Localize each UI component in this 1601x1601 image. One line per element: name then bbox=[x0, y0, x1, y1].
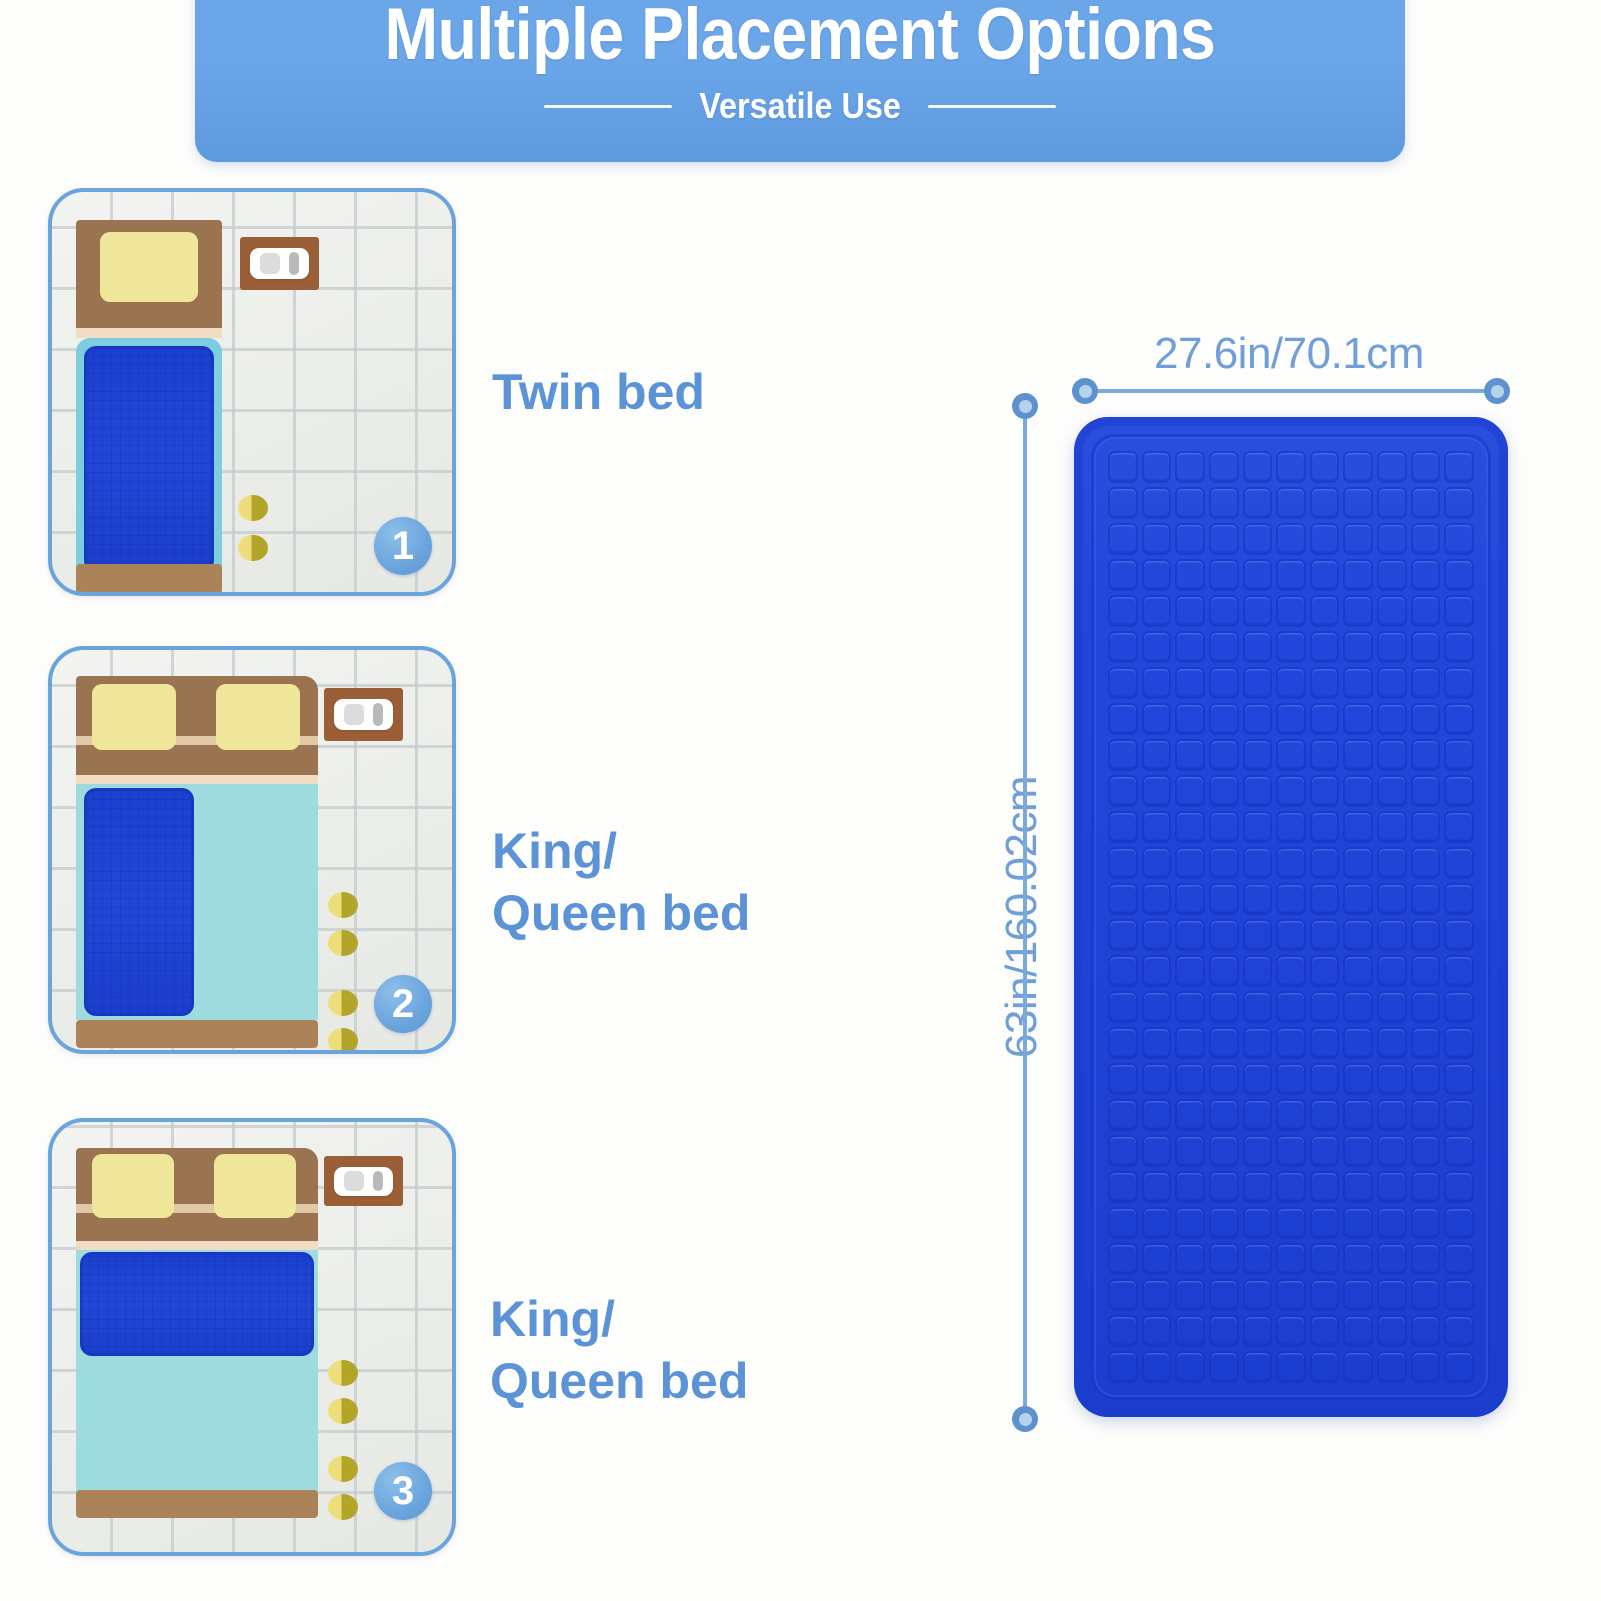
mat-texture-cell bbox=[1377, 1243, 1407, 1275]
mat-texture-cell bbox=[1209, 703, 1239, 735]
mat-texture-cell bbox=[1175, 1099, 1205, 1131]
footprint-icon bbox=[328, 930, 358, 956]
mat-texture-cell bbox=[1377, 703, 1407, 735]
mat-texture-cell bbox=[1142, 595, 1172, 627]
mat-texture-cell bbox=[1108, 667, 1138, 699]
mat-texture-cell bbox=[1444, 1315, 1474, 1347]
mat-texture-cell bbox=[1411, 1099, 1441, 1131]
mat-texture-cell bbox=[1377, 955, 1407, 987]
product-mat-in-scene-2 bbox=[84, 788, 194, 1016]
mat-texture-cell bbox=[1343, 667, 1373, 699]
mat-texture-cell bbox=[1411, 451, 1441, 483]
mat-texture-cell bbox=[1444, 919, 1474, 951]
mat-texture-cell bbox=[1276, 991, 1306, 1023]
mat-texture-cell bbox=[1310, 1207, 1340, 1239]
mat-texture-cell bbox=[1276, 775, 1306, 807]
mat-texture-cell bbox=[1377, 451, 1407, 483]
mat-texture-cell bbox=[1243, 1027, 1273, 1059]
mat-texture-cell bbox=[1343, 1027, 1373, 1059]
mat-texture-cell bbox=[1175, 559, 1205, 591]
mat-texture-cell bbox=[1343, 1351, 1373, 1383]
mat-texture-cell bbox=[1243, 1243, 1273, 1275]
mat-texture-cell bbox=[1310, 847, 1340, 879]
mat-texture-cell bbox=[1343, 811, 1373, 843]
mat-texture-cell bbox=[1108, 1207, 1138, 1239]
mat-texture-cell bbox=[1411, 631, 1441, 663]
mat-texture-cell bbox=[1343, 559, 1373, 591]
mat-texture-cell bbox=[1175, 775, 1205, 807]
mat-texture-cell bbox=[1411, 991, 1441, 1023]
mat-texture-cell bbox=[1444, 739, 1474, 771]
mat-texture-cell bbox=[1209, 1351, 1239, 1383]
mat-texture-cell bbox=[1444, 1063, 1474, 1095]
mat-texture-cell bbox=[1142, 703, 1172, 735]
mat-texture-cell bbox=[1108, 595, 1138, 627]
scene-label-twin-bed: Twin bed bbox=[492, 361, 705, 423]
scene-label-king-queen-2: King/ Queen bed bbox=[492, 820, 750, 944]
mat-texture-cell bbox=[1377, 487, 1407, 519]
mat-texture-cell bbox=[1411, 847, 1441, 879]
mat-texture-cell bbox=[1377, 559, 1407, 591]
footprint-icon bbox=[328, 1028, 358, 1054]
mat-texture-cell bbox=[1343, 703, 1373, 735]
mat-texture-cell bbox=[1142, 667, 1172, 699]
mat-texture-cell bbox=[1209, 847, 1239, 879]
scene-illustration-3: 3 bbox=[52, 1122, 452, 1552]
mat-texture-cell bbox=[1377, 667, 1407, 699]
mat-texture-cell bbox=[1175, 919, 1205, 951]
header-banner: Multiple Placement Options Versatile Use bbox=[195, 0, 1405, 162]
mat-texture-cell bbox=[1175, 1315, 1205, 1347]
mat-texture-cell bbox=[1377, 523, 1407, 555]
mat-texture-cell bbox=[1310, 1315, 1340, 1347]
mat-texture-cell bbox=[1377, 991, 1407, 1023]
mat-texture-cell bbox=[1310, 1063, 1340, 1095]
mat-texture-cell bbox=[1108, 955, 1138, 987]
mat-texture-cell bbox=[1108, 1171, 1138, 1203]
mat-texture-cell bbox=[1411, 559, 1441, 591]
mat-texture-cell bbox=[1209, 739, 1239, 771]
mat-texture-cell bbox=[1411, 595, 1441, 627]
mat-texture-cell bbox=[1243, 523, 1273, 555]
step-badge-1: 1 bbox=[374, 517, 432, 575]
mat-texture-cell bbox=[1209, 1315, 1239, 1347]
mat-texture-cell bbox=[1142, 1099, 1172, 1131]
mat-texture-cell bbox=[1175, 631, 1205, 663]
headboard-lip-3b bbox=[76, 1241, 318, 1250]
mat-texture-cell bbox=[1142, 1279, 1172, 1311]
headboard-lip-1 bbox=[76, 328, 222, 338]
mat-texture-cell bbox=[1243, 919, 1273, 951]
mat-texture-cell bbox=[1310, 1099, 1340, 1131]
mat-texture-cell bbox=[1243, 739, 1273, 771]
mat-texture-cell bbox=[1276, 1171, 1306, 1203]
product-mat-photo bbox=[1074, 417, 1508, 1417]
mat-texture-cell bbox=[1175, 1135, 1205, 1167]
mat-texture-cell bbox=[1243, 1099, 1273, 1131]
mat-texture-cell bbox=[1108, 1351, 1138, 1383]
mat-texture-cell bbox=[1444, 955, 1474, 987]
mat-texture-cell bbox=[1209, 1135, 1239, 1167]
mat-texture-cell bbox=[1343, 775, 1373, 807]
mat-texture-cell bbox=[1243, 1207, 1273, 1239]
mat-texture-cell bbox=[1175, 991, 1205, 1023]
mat-texture-cell bbox=[1142, 1063, 1172, 1095]
mat-texture-cell bbox=[1276, 667, 1306, 699]
rule-left-decoration bbox=[544, 105, 672, 108]
mat-texture-cell bbox=[1444, 775, 1474, 807]
mat-texture-cell bbox=[1444, 1135, 1474, 1167]
mat-texture-cell bbox=[1276, 451, 1306, 483]
mat-texture-cell bbox=[1411, 1315, 1441, 1347]
mat-texture-cell bbox=[1343, 1099, 1373, 1131]
mat-texture-cell bbox=[1411, 1063, 1441, 1095]
mat-texture-cell bbox=[1209, 631, 1239, 663]
mat-texture-cell bbox=[1377, 883, 1407, 915]
mat-texture-cell bbox=[1276, 955, 1306, 987]
mat-texture-cell bbox=[1276, 739, 1306, 771]
mat-texture-cell bbox=[1243, 1063, 1273, 1095]
scene-panel-king-queen-side: 2 bbox=[48, 646, 456, 1054]
mat-texture-cell bbox=[1243, 667, 1273, 699]
mat-texture-cell bbox=[1142, 523, 1172, 555]
phone-icon bbox=[344, 704, 364, 725]
mat-texture-cell bbox=[1343, 919, 1373, 951]
mat-texture-cell bbox=[1209, 1207, 1239, 1239]
mat-texture-cell bbox=[1411, 523, 1441, 555]
mat-texture-cell bbox=[1276, 1099, 1306, 1131]
bed-footboard-2 bbox=[76, 1020, 318, 1048]
mat-texture-cell bbox=[1310, 1279, 1340, 1311]
mat-texture-cell bbox=[1444, 487, 1474, 519]
mat-texture-cell bbox=[1243, 1171, 1273, 1203]
mat-texture-cell bbox=[1108, 739, 1138, 771]
mat-texture-cell bbox=[1243, 847, 1273, 879]
mat-texture-cell bbox=[1209, 919, 1239, 951]
dimension-endpoint-bottom-icon bbox=[1012, 1406, 1038, 1432]
mat-texture-cell bbox=[1108, 1027, 1138, 1059]
mat-texture-cell bbox=[1310, 883, 1340, 915]
mat-texture-cell bbox=[1377, 1351, 1407, 1383]
phone-icon bbox=[260, 253, 280, 274]
mat-texture-cell bbox=[1276, 703, 1306, 735]
mat-texture-cell bbox=[1243, 1279, 1273, 1311]
mat-texture-cell bbox=[1142, 955, 1172, 987]
mat-texture-cell bbox=[1243, 559, 1273, 591]
mat-texture-cell bbox=[1142, 775, 1172, 807]
mat-texture-cell bbox=[1142, 487, 1172, 519]
mat-texture-cell bbox=[1108, 919, 1138, 951]
mat-texture-cell bbox=[1310, 1243, 1340, 1275]
footprint-icon bbox=[238, 495, 268, 521]
mat-texture-cell bbox=[1276, 883, 1306, 915]
mat-texture-cell bbox=[1377, 1279, 1407, 1311]
mat-texture-cell bbox=[1276, 847, 1306, 879]
phone-icon bbox=[344, 1171, 364, 1191]
footprint-icon bbox=[328, 1398, 358, 1424]
nightstand-tray-1 bbox=[250, 248, 308, 279]
mat-texture-cell bbox=[1108, 523, 1138, 555]
dimension-endpoint-top-icon bbox=[1012, 393, 1038, 419]
mat-texture-cell bbox=[1142, 1351, 1172, 1383]
mat-texture-cell bbox=[1142, 1207, 1172, 1239]
mat-texture-cell bbox=[1444, 595, 1474, 627]
mat-texture-cell bbox=[1142, 559, 1172, 591]
mat-texture-cell bbox=[1377, 631, 1407, 663]
mat-texture-cell bbox=[1310, 523, 1340, 555]
mat-texture-cell bbox=[1343, 631, 1373, 663]
mat-texture-cell bbox=[1310, 1027, 1340, 1059]
mat-texture-cell bbox=[1142, 1171, 1172, 1203]
footprint-icon bbox=[328, 892, 358, 918]
mat-texture-cell bbox=[1243, 451, 1273, 483]
rule-right-decoration bbox=[928, 105, 1056, 108]
mat-texture-cell bbox=[1108, 883, 1138, 915]
mat-texture-cell bbox=[1411, 1279, 1441, 1311]
mat-texture-cell bbox=[1142, 631, 1172, 663]
mat-texture-cell bbox=[1411, 1243, 1441, 1275]
mat-texture-cell bbox=[1444, 1243, 1474, 1275]
mat-texture-cell bbox=[1243, 703, 1273, 735]
mat-texture-cell bbox=[1276, 1315, 1306, 1347]
mat-texture-cell bbox=[1411, 739, 1441, 771]
mat-texture-cell bbox=[1243, 811, 1273, 843]
mat-texture-cell bbox=[1310, 667, 1340, 699]
mat-texture-cell bbox=[1411, 775, 1441, 807]
mat-texture-cell bbox=[1411, 1351, 1441, 1383]
mat-texture-cell bbox=[1343, 523, 1373, 555]
mat-texture-cell bbox=[1444, 1027, 1474, 1059]
mat-texture-cell bbox=[1108, 1135, 1138, 1167]
mat-texture-cell bbox=[1411, 1171, 1441, 1203]
mat-texture-cell bbox=[1411, 883, 1441, 915]
mat-texture-cell bbox=[1142, 1315, 1172, 1347]
footprint-icon bbox=[328, 1456, 358, 1482]
mat-texture-cell bbox=[1209, 1171, 1239, 1203]
pillow-2a bbox=[92, 684, 176, 750]
mat-texture-cell bbox=[1175, 847, 1205, 879]
mat-texture-cell bbox=[1108, 1063, 1138, 1095]
mat-texture-cell bbox=[1142, 811, 1172, 843]
mat-texture-cell bbox=[1310, 1171, 1340, 1203]
nightstand-tray-2 bbox=[334, 699, 392, 730]
mat-texture-cell bbox=[1377, 1135, 1407, 1167]
mat-texture-cell bbox=[1377, 1315, 1407, 1347]
mat-texture-cell bbox=[1276, 1207, 1306, 1239]
mat-texture-cell bbox=[1243, 991, 1273, 1023]
mat-texture-cell bbox=[1411, 703, 1441, 735]
mat-texture-cell bbox=[1343, 1207, 1373, 1239]
mat-texture-cell bbox=[1209, 991, 1239, 1023]
mat-texture-cell bbox=[1310, 559, 1340, 591]
mat-texture-cell bbox=[1310, 703, 1340, 735]
mat-texture-cell bbox=[1243, 955, 1273, 987]
mat-texture-cell bbox=[1243, 1135, 1273, 1167]
mat-texture-cell bbox=[1310, 919, 1340, 951]
footprint-icon bbox=[328, 1494, 358, 1520]
mat-texture-cell bbox=[1142, 739, 1172, 771]
mat-texture-cell bbox=[1175, 883, 1205, 915]
mat-texture-cell bbox=[1444, 703, 1474, 735]
mat-texture-cell bbox=[1310, 595, 1340, 627]
mat-texture-cell bbox=[1209, 775, 1239, 807]
mat-texture-cell bbox=[1343, 595, 1373, 627]
mat-texture-cell bbox=[1142, 883, 1172, 915]
mat-texture-cell bbox=[1343, 847, 1373, 879]
mat-texture-cell bbox=[1377, 1027, 1407, 1059]
mat-texture-cell bbox=[1310, 991, 1340, 1023]
mat-texture-cell bbox=[1343, 487, 1373, 519]
dimension-line-horizontal bbox=[1083, 389, 1495, 393]
mat-texture-cell bbox=[1209, 667, 1239, 699]
mat-texture-cell bbox=[1175, 1063, 1205, 1095]
mat-texture-cell bbox=[1343, 1315, 1373, 1347]
mat-texture-cell bbox=[1343, 1063, 1373, 1095]
mat-texture-cell bbox=[1377, 1207, 1407, 1239]
mat-texture-cell bbox=[1343, 1135, 1373, 1167]
mat-texture-cell bbox=[1209, 1099, 1239, 1131]
mat-texture-cell bbox=[1444, 991, 1474, 1023]
mat-texture-cell bbox=[1175, 1279, 1205, 1311]
mat-texture-cell bbox=[1175, 1171, 1205, 1203]
mat-texture-cell bbox=[1276, 631, 1306, 663]
mat-texture-cell bbox=[1276, 811, 1306, 843]
mat-texture-cell bbox=[1243, 631, 1273, 663]
banner-subtitle-group: Versatile Use bbox=[195, 83, 1405, 129]
mat-texture-cell bbox=[1310, 1351, 1340, 1383]
remote-icon bbox=[373, 703, 383, 725]
mat-texture-cell bbox=[1108, 775, 1138, 807]
mat-texture-cell bbox=[1444, 559, 1474, 591]
mat-texture-cell bbox=[1108, 559, 1138, 591]
scene-label-king-queen-3: King/ Queen bed bbox=[490, 1288, 748, 1412]
dimension-label-height: 63in/160.02cm bbox=[997, 727, 1047, 1107]
mat-texture-cell bbox=[1175, 703, 1205, 735]
scene-illustration-2: 2 bbox=[52, 650, 452, 1050]
mat-texture-cell bbox=[1411, 919, 1441, 951]
mat-texture-cell bbox=[1310, 775, 1340, 807]
mat-texture-cell bbox=[1276, 919, 1306, 951]
mat-texture-cell bbox=[1444, 1279, 1474, 1311]
mat-texture-cell bbox=[1175, 667, 1205, 699]
mat-texture-cell bbox=[1310, 451, 1340, 483]
scene-panel-twin-bed: 1 bbox=[48, 188, 456, 596]
mat-texture-cell bbox=[1343, 739, 1373, 771]
mat-texture-cell bbox=[1276, 523, 1306, 555]
remote-icon bbox=[289, 252, 299, 274]
mat-texture-cell bbox=[1310, 487, 1340, 519]
mat-texture-cell bbox=[1343, 1279, 1373, 1311]
pillow-3a bbox=[92, 1154, 174, 1218]
mat-texture-cell bbox=[1310, 1135, 1340, 1167]
remote-icon bbox=[373, 1171, 383, 1192]
mat-texture-cell bbox=[1108, 991, 1138, 1023]
mat-texture-cell bbox=[1175, 739, 1205, 771]
nightstand-1-body bbox=[240, 237, 319, 290]
mat-texture-cell bbox=[1377, 847, 1407, 879]
mat-texture-cell bbox=[1108, 1099, 1138, 1131]
mat-texture-cell bbox=[1108, 1315, 1138, 1347]
mat-texture-cell bbox=[1276, 595, 1306, 627]
mat-texture-cell bbox=[1377, 1063, 1407, 1095]
mat-texture-cell bbox=[1175, 451, 1205, 483]
step-badge-2: 2 bbox=[374, 975, 432, 1033]
mat-texture-cell bbox=[1142, 1135, 1172, 1167]
scene-illustration-1: 1 bbox=[52, 192, 452, 592]
bed-footboard-3 bbox=[76, 1490, 318, 1518]
dimension-line-vertical bbox=[1023, 404, 1027, 1417]
footprint-icon bbox=[328, 1360, 358, 1386]
mat-texture-cell bbox=[1276, 1351, 1306, 1383]
mat-texture-cell bbox=[1243, 487, 1273, 519]
mat-texture-cell bbox=[1411, 487, 1441, 519]
mat-texture-cell bbox=[1209, 523, 1239, 555]
footprint-icon bbox=[328, 990, 358, 1016]
mat-texture-cell bbox=[1276, 1063, 1306, 1095]
mat-texture-cell bbox=[1444, 523, 1474, 555]
mat-texture-cell bbox=[1444, 1207, 1474, 1239]
scene-panel-king-queen-top: 3 bbox=[48, 1118, 456, 1556]
mat-texture-cell bbox=[1343, 955, 1373, 987]
dimension-endpoint-left-icon bbox=[1072, 378, 1098, 404]
mat-texture-cell bbox=[1276, 1243, 1306, 1275]
mat-texture-cell bbox=[1108, 631, 1138, 663]
mat-texture-cell bbox=[1175, 595, 1205, 627]
mat-texture-cell bbox=[1343, 1171, 1373, 1203]
pillow-1a bbox=[100, 232, 198, 302]
mat-texture-cell bbox=[1310, 811, 1340, 843]
mat-texture-cell bbox=[1108, 703, 1138, 735]
mat-texture-cell bbox=[1209, 811, 1239, 843]
mat-texture-cell bbox=[1142, 847, 1172, 879]
mat-texture-cell bbox=[1175, 1027, 1205, 1059]
mat-texture-cell bbox=[1276, 487, 1306, 519]
mat-texture-cell bbox=[1444, 1099, 1474, 1131]
bed-footboard-1 bbox=[76, 564, 222, 594]
mat-texture-cell bbox=[1377, 919, 1407, 951]
mat-texture-cell bbox=[1411, 811, 1441, 843]
banner-subtitle: Versatile Use bbox=[699, 85, 901, 127]
mat-texture-cell bbox=[1243, 775, 1273, 807]
mat-texture-cell bbox=[1175, 523, 1205, 555]
mat-texture-cell bbox=[1343, 883, 1373, 915]
mat-texture-cell bbox=[1444, 1351, 1474, 1383]
mat-texture-cell bbox=[1108, 1279, 1138, 1311]
mat-texture-cell bbox=[1276, 1279, 1306, 1311]
product-mat-in-scene-3 bbox=[80, 1252, 314, 1356]
mat-texture-cell bbox=[1411, 1207, 1441, 1239]
mat-texture-cell bbox=[1209, 451, 1239, 483]
mat-texture-cell bbox=[1108, 847, 1138, 879]
mat-texture-cell bbox=[1310, 631, 1340, 663]
dimension-label-width: 27.6in/70.1cm bbox=[1076, 329, 1502, 379]
page-title: Multiple Placement Options bbox=[268, 0, 1333, 78]
mat-texture-cell bbox=[1377, 1099, 1407, 1131]
pillow-2b bbox=[216, 684, 300, 750]
mat-texture-cell bbox=[1310, 955, 1340, 987]
mat-texture-cell bbox=[1175, 487, 1205, 519]
infographic-page: Multiple Placement Options Versatile Use bbox=[0, 0, 1601, 1601]
mat-texture-cell bbox=[1377, 739, 1407, 771]
mat-texture-cell bbox=[1377, 1171, 1407, 1203]
mat-texture-cell bbox=[1343, 991, 1373, 1023]
nightstand-2 bbox=[324, 688, 403, 741]
mat-texture-cell bbox=[1175, 1351, 1205, 1383]
mat-texture-cell bbox=[1243, 1315, 1273, 1347]
mat-texture-cell bbox=[1444, 847, 1474, 879]
mat-texture-cell bbox=[1411, 1135, 1441, 1167]
mat-texture-cell bbox=[1209, 955, 1239, 987]
